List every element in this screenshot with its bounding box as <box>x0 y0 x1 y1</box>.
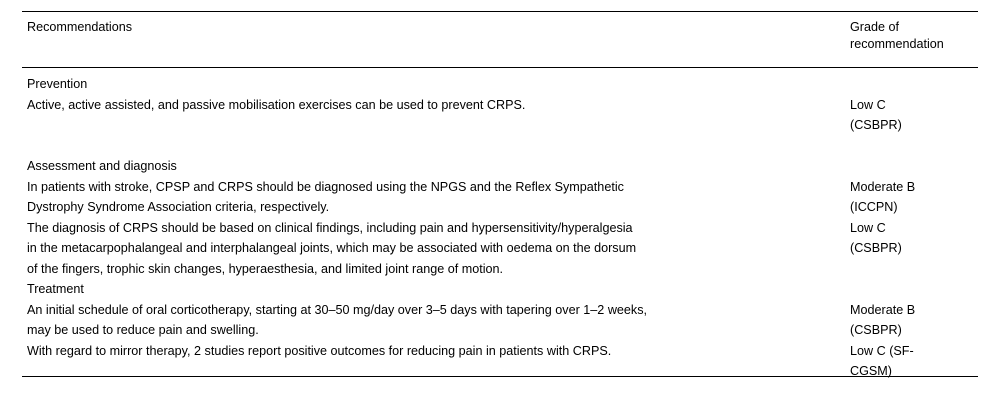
recommendation-line: With regard to mirror therapy, 2 studies… <box>27 341 842 362</box>
recommendation-line: of the fingers, trophic skin changes, hy… <box>27 259 842 280</box>
column-header-recommendations: Recommendations <box>27 19 850 36</box>
table-top-rule <box>22 11 978 12</box>
grade-cell: Moderate B (CSBPR) <box>850 300 978 341</box>
section-header-row: Prevention <box>27 74 978 95</box>
recommendation-line: in the metacarpophalangeal and interphal… <box>27 238 842 259</box>
table-row: An initial schedule of oral corticothera… <box>27 300 978 341</box>
section-title: Prevention <box>27 74 850 95</box>
grade-line: Moderate B <box>850 177 978 198</box>
section-header-row: Assessment and diagnosis <box>27 156 978 177</box>
grade-line: CGSM) <box>850 361 978 382</box>
grade-line: Low C <box>850 218 978 239</box>
recommendation-text: An initial schedule of oral corticothera… <box>27 300 850 341</box>
grade-cell: Low C (SF- CGSM) <box>850 341 978 382</box>
table-row: In patients with stroke, CPSP and CRPS s… <box>27 177 978 218</box>
table-row: The diagnosis of CRPS should be based on… <box>27 218 978 280</box>
grade-line: (CSBPR) <box>850 115 978 136</box>
recommendation-text: Active, active assisted, and passive mob… <box>27 95 850 116</box>
recommendations-table: Recommendations Grade of recommendation … <box>0 0 1000 401</box>
table-header-rule <box>22 67 978 68</box>
grade-line: (ICCPN) <box>850 197 978 218</box>
recommendation-line: An initial schedule of oral corticothera… <box>27 300 842 321</box>
grade-line: Low C <box>850 95 978 116</box>
recommendation-line: Active, active assisted, and passive mob… <box>27 95 842 116</box>
grade-cell: Low C (CSBPR) <box>850 95 978 136</box>
section-title: Assessment and diagnosis <box>27 156 850 177</box>
column-header-recommendations-label: Recommendations <box>27 20 132 34</box>
column-header-grade: Grade of recommendation <box>850 19 978 52</box>
recommendation-line: may be used to reduce pain and swelling. <box>27 320 842 341</box>
table-header-row: Recommendations Grade of recommendation <box>27 19 978 52</box>
recommendation-line: The diagnosis of CRPS should be based on… <box>27 218 842 239</box>
grade-cell: Moderate B (ICCPN) <box>850 177 978 218</box>
grade-line: (CSBPR) <box>850 238 978 259</box>
grade-cell: Low C (CSBPR) <box>850 218 978 259</box>
recommendation-text: With regard to mirror therapy, 2 studies… <box>27 341 850 362</box>
recommendation-line: Dystrophy Syndrome Association criteria,… <box>27 197 842 218</box>
section-header-row: Treatment <box>27 279 978 300</box>
grade-line: (CSBPR) <box>850 320 978 341</box>
table-row: Active, active assisted, and passive mob… <box>27 95 978 136</box>
grade-line: Moderate B <box>850 300 978 321</box>
recommendation-line: In patients with stroke, CPSP and CRPS s… <box>27 177 842 198</box>
column-header-grade-line1: Grade of <box>850 19 978 36</box>
table-row: With regard to mirror therapy, 2 studies… <box>27 341 978 382</box>
section-spacer <box>27 136 978 157</box>
section-title: Treatment <box>27 279 850 300</box>
table-body: Prevention Active, active assisted, and … <box>27 74 978 382</box>
grade-line: Low C (SF- <box>850 341 978 362</box>
recommendation-text: The diagnosis of CRPS should be based on… <box>27 218 850 280</box>
recommendation-text: In patients with stroke, CPSP and CRPS s… <box>27 177 850 218</box>
column-header-grade-line2: recommendation <box>850 36 978 53</box>
